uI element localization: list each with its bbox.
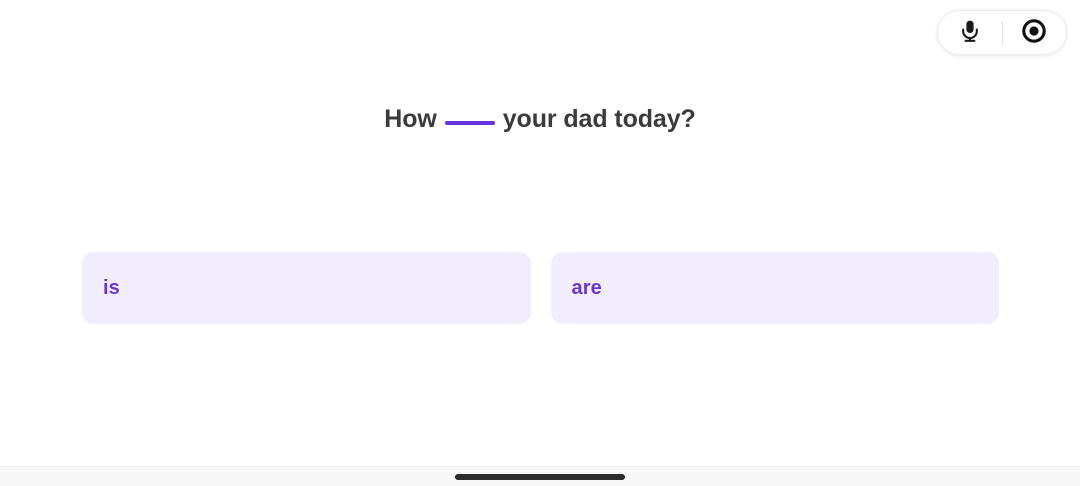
audio-control-pill <box>937 10 1067 55</box>
home-indicator[interactable] <box>455 474 625 480</box>
answer-option-label: are <box>572 277 602 300</box>
record-button[interactable] <box>1003 11 1067 54</box>
system-navigation-bar <box>0 466 1080 486</box>
question-prefix: How <box>384 105 436 134</box>
microphone-icon <box>959 19 981 46</box>
answer-option-label: is <box>103 277 120 300</box>
question-line: How your dad today? <box>0 105 1080 134</box>
blank-slot[interactable] <box>445 121 495 125</box>
question-suffix: your dad today? <box>503 105 696 134</box>
answer-options: is are <box>82 252 999 324</box>
microphone-button[interactable] <box>938 11 1002 54</box>
answer-option-is[interactable]: is <box>82 252 531 324</box>
record-icon <box>1021 18 1047 47</box>
answer-option-are[interactable]: are <box>551 252 1000 324</box>
